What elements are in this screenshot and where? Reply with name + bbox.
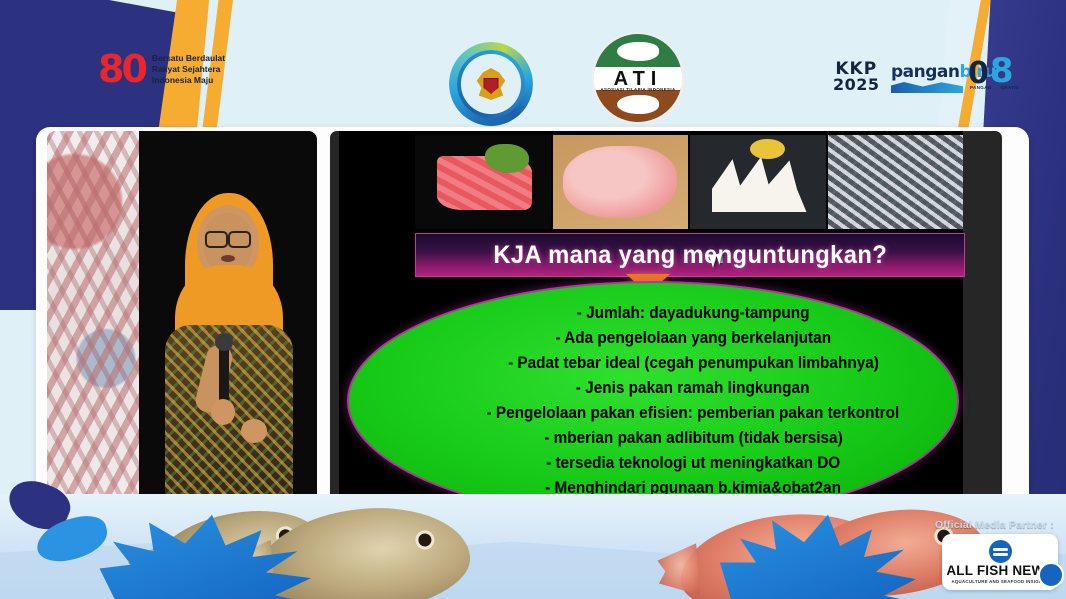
ati-association-logo: ATI ASOSIASI TILAPIA INDONESIA: [592, 32, 684, 124]
presentation-slide-panel[interactable]: KJA mana yang menguntungkan? - Jumlah: d…: [330, 131, 1002, 523]
speaker-hand-right: [241, 419, 267, 443]
ati-fish-bottom-icon: [617, 95, 659, 114]
speaker-person: [159, 193, 299, 523]
list-item: - Padat tebar ideal (cegah penumpukan li…: [508, 351, 879, 376]
logo-80-tagline: Bersatu Berdaulat Rakyat Sejahtera Indon…: [152, 53, 225, 86]
zero-eight-zero: 0: [968, 60, 989, 87]
kkp-2025-line2: 2025: [833, 78, 880, 93]
kkp-ministry-logo: [443, 36, 539, 132]
media-partner-label: Official Media Partner :: [935, 519, 1054, 531]
microphone-head-icon: [215, 333, 233, 351]
panganbiru-part1: pangan: [891, 62, 960, 82]
zero-eight-eight: 8: [990, 56, 1014, 87]
all-fish-news-mark-icon: [989, 540, 1012, 563]
zero-eight-subtitle: PANGAN GRATIS: [970, 85, 1019, 90]
speaker-mouth: [221, 255, 235, 262]
speaker-hand-left: [211, 399, 235, 425]
ati-fish-top-icon: [617, 42, 659, 61]
slide-canvas: KJA mana yang menguntungkan? - Jumlah: d…: [339, 131, 963, 523]
list-item: - tersedia teknologi ut meningkatkan DO: [546, 451, 840, 476]
pink-snapper-photo: [553, 135, 691, 229]
zero-eight-sub1: PANGAN: [970, 85, 991, 90]
slide-title: KJA mana yang menguntungkan?: [493, 241, 887, 270]
stage-backdrop-screen: [47, 131, 139, 523]
zero-eight-logo: 0 8: [968, 56, 1014, 87]
ati-subtitle: ASOSIASI TILAPIA INDONESIA: [594, 87, 682, 92]
small-silver-fish-photo: [828, 135, 964, 229]
logo-80-anniversary: 80 Bersatu Berdaulat Rakyat Sejahtera In…: [98, 50, 225, 88]
list-item: - Jumlah: dayadukung-tampung: [577, 301, 810, 326]
squid-photo: [690, 135, 828, 229]
all-fish-news-badge-icon: [1038, 562, 1064, 588]
logo-80-line1: Bersatu Berdaulat: [152, 53, 225, 64]
seafood-photo-strip: [415, 135, 963, 229]
slide-title-banner: KJA mana yang menguntungkan?: [415, 233, 965, 277]
panganbiru-wave-icon: [891, 81, 963, 93]
logo-80-line2: Rakyat Sejahtera: [152, 64, 225, 75]
ati-bottom-band: [594, 87, 682, 122]
tuna-sashimi-photo: [415, 135, 553, 229]
all-fish-news-tagline: AQUACULTURE AND SEAFOOD INSIGHTS: [951, 579, 1048, 584]
list-item: - Pengelolaan pakan efisien: pemberian p…: [487, 401, 900, 426]
kkp-2025-logo: KKP 2025: [833, 62, 880, 92]
slide-bullet-list: - Jumlah: dayadukung-tampung - Ada penge…: [349, 301, 997, 523]
list-item: - Ada pengelolaan yang berkelanjutan: [555, 326, 831, 351]
zero-eight-sub2: GRATIS: [1000, 85, 1019, 90]
screen-root: 80 Bersatu Berdaulat Rakyat Sejahtera In…: [0, 0, 1066, 599]
list-item: - mberian pakan adlibitum (tidak bersisa…: [544, 426, 842, 451]
speaker-glasses-icon: [205, 231, 251, 244]
bottom-decoration-band: [0, 494, 1066, 599]
logo-80-line3: Indonesia Maju: [152, 75, 225, 86]
list-item: - Jenis pakan ramah lingkungan: [576, 376, 810, 401]
speaker-video-panel[interactable]: [47, 131, 317, 523]
logo-80-number: 80: [98, 50, 145, 88]
fish-eye-2: [414, 530, 435, 551]
green-oval-callout: - Jumlah: dayadukung-tampung - Ada penge…: [347, 281, 959, 521]
all-fish-news-logo[interactable]: ALL FISH NEWS AQUACULTURE AND SEAFOOD IN…: [942, 534, 1058, 590]
